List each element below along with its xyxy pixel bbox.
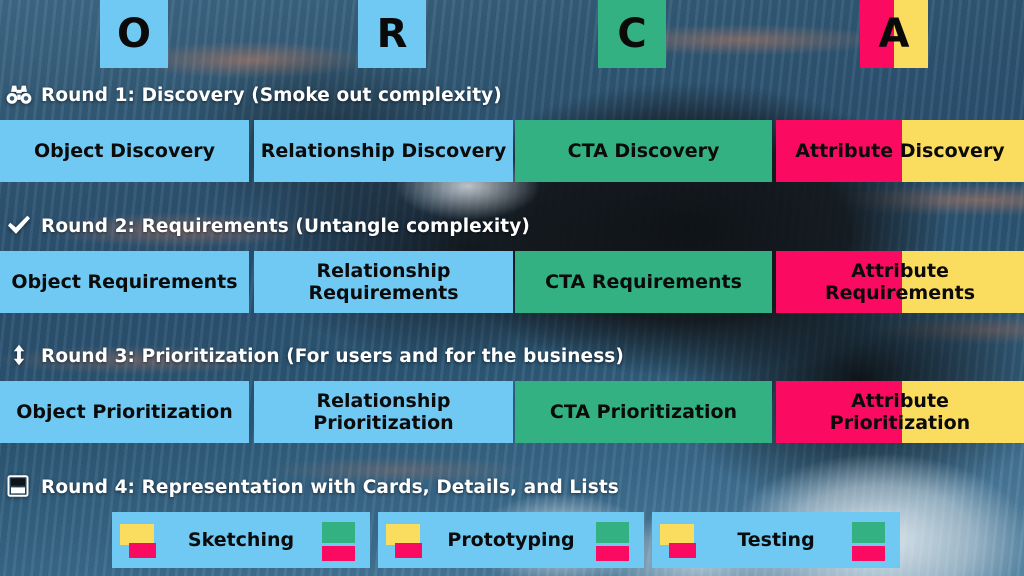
- object-requirements-bar[interactable]: Object Requirements: [0, 251, 249, 313]
- card-icon: [6, 475, 32, 499]
- icon-block-primary: [660, 524, 694, 545]
- orca-letter-r: R: [358, 0, 426, 68]
- relationship-prioritization-label: Relationship Prioritization: [313, 390, 453, 434]
- icon-block-primary: [322, 522, 355, 543]
- orca-letter-o: O: [100, 0, 168, 68]
- object-discovery-bar[interactable]: Object Discovery: [0, 120, 249, 182]
- object-prioritization-label: Object Prioritization: [16, 401, 233, 423]
- prototyping-card-label: Prototyping: [428, 529, 594, 551]
- relationship-requirements-bar[interactable]: Relationship Requirements: [254, 251, 513, 313]
- round-1-title: Round 1: Discovery (Smoke out complexity…: [41, 85, 502, 106]
- orca-letter-a: A: [860, 0, 928, 68]
- cta-prioritization-bar[interactable]: CTA Prioritization: [515, 381, 772, 443]
- card-stack-icon: [320, 519, 362, 561]
- sketching-card-label: Sketching: [162, 529, 320, 551]
- sketching-card[interactable]: Sketching: [112, 512, 370, 568]
- attribute-prioritization-label: Attribute Prioritization: [830, 390, 970, 434]
- round-1-heading: Round 1: Discovery (Smoke out complexity…: [6, 82, 502, 108]
- orca-letter-glyph: C: [617, 14, 646, 54]
- orca-letter-glyph: A: [879, 14, 910, 54]
- testing-card-label: Testing: [702, 529, 850, 551]
- icon-block-secondary: [395, 543, 422, 558]
- orca-letter-glyph: R: [377, 14, 408, 54]
- sketch-icon: [120, 519, 162, 561]
- attribute-discovery-bar[interactable]: Attribute Discovery: [776, 120, 1024, 182]
- relationship-discovery-label: Relationship Discovery: [261, 140, 507, 162]
- icon-block-primary: [120, 524, 154, 545]
- cta-discovery-bar[interactable]: CTA Discovery: [515, 120, 772, 182]
- cta-discovery-label: CTA Discovery: [568, 140, 720, 162]
- testing-card[interactable]: Testing: [652, 512, 900, 568]
- prototyping-card[interactable]: Prototyping: [378, 512, 644, 568]
- round-4-title: Round 4: Representation with Cards, Deta…: [41, 477, 619, 498]
- sketch-icon: [386, 519, 428, 561]
- object-prioritization-bar[interactable]: Object Prioritization: [0, 381, 249, 443]
- round-3-heading: Round 3: Prioritization (For users and f…: [6, 343, 624, 369]
- orca-letter-c: C: [598, 0, 666, 68]
- relationship-discovery-bar[interactable]: Relationship Discovery: [254, 120, 513, 182]
- cta-requirements-label: CTA Requirements: [545, 271, 742, 293]
- object-requirements-label: Object Requirements: [11, 271, 237, 293]
- relationship-requirements-label: Relationship Requirements: [308, 260, 458, 304]
- icon-block-primary: [386, 524, 420, 545]
- round-4-heading: Round 4: Representation with Cards, Deta…: [6, 474, 619, 500]
- orca-rounds-slide: ORCA Round 1: Discovery (Smoke out compl…: [0, 0, 1024, 576]
- cta-requirements-bar[interactable]: CTA Requirements: [515, 251, 772, 313]
- sketch-icon: [660, 519, 702, 561]
- round-2-heading: Round 2: Requirements (Untangle complexi…: [6, 213, 530, 239]
- icon-block-secondary: [129, 543, 156, 558]
- icon-block-secondary: [669, 543, 696, 558]
- round-2-title: Round 2: Requirements (Untangle complexi…: [41, 216, 530, 237]
- check-icon: [6, 214, 32, 238]
- icon-block-primary: [596, 522, 629, 543]
- binoculars-icon: [6, 83, 32, 107]
- icon-block-primary: [852, 522, 885, 543]
- round-3-title: Round 3: Prioritization (For users and f…: [41, 346, 624, 367]
- cta-prioritization-label: CTA Prioritization: [550, 401, 737, 423]
- card-stack-icon: [850, 519, 892, 561]
- orca-letter-glyph: O: [117, 14, 151, 54]
- attribute-prioritization-bar[interactable]: Attribute Prioritization: [776, 381, 1024, 443]
- attribute-requirements-label: Attribute Requirements: [825, 260, 975, 304]
- icon-block-secondary: [852, 546, 885, 561]
- icon-block-secondary: [322, 546, 355, 561]
- object-discovery-label: Object Discovery: [34, 140, 215, 162]
- up-down-arrow-icon: [6, 344, 32, 368]
- icon-block-secondary: [596, 546, 629, 561]
- card-stack-icon: [594, 519, 636, 561]
- relationship-prioritization-bar[interactable]: Relationship Prioritization: [254, 381, 513, 443]
- attribute-discovery-label: Attribute Discovery: [795, 140, 1004, 162]
- attribute-requirements-bar[interactable]: Attribute Requirements: [776, 251, 1024, 313]
